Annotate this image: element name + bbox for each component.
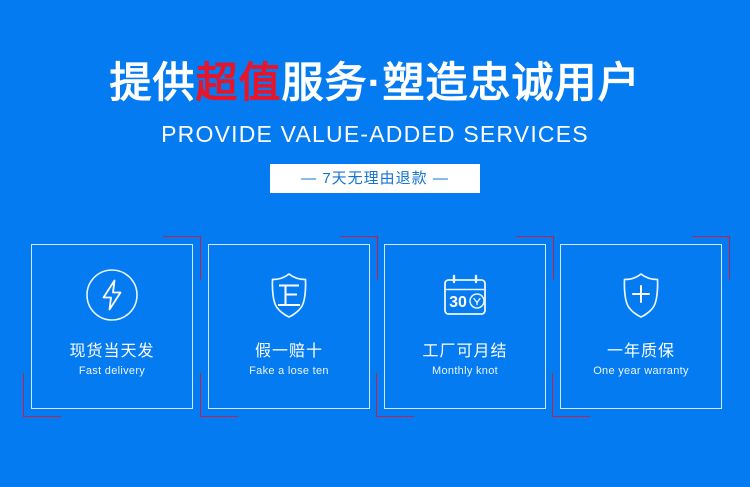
svg-text:30: 30 bbox=[449, 294, 467, 311]
card-subtitle: One year warranty bbox=[560, 364, 722, 379]
shield-plus-icon bbox=[560, 264, 722, 326]
corner-bracket-bottom-left bbox=[23, 373, 61, 417]
corner-bracket-bottom-left bbox=[376, 373, 414, 417]
card-title: 现货当天发 bbox=[31, 341, 193, 363]
feature-card-authenticity[interactable]: 假一赔十 Fake a lose ten bbox=[208, 244, 370, 409]
calendar-30-icon: 30 bbox=[384, 264, 546, 326]
card-subtitle: Monthly knot bbox=[384, 364, 546, 379]
card-subtitle: Fast delivery bbox=[31, 364, 193, 379]
card-subtitle: Fake a lose ten bbox=[208, 364, 370, 379]
lightning-circle-icon bbox=[31, 264, 193, 326]
card-title: 一年质保 bbox=[560, 341, 722, 363]
feature-card-list: 现货当天发 Fast delivery 假一赔十 Fake a lose ten bbox=[0, 0, 750, 487]
feature-card-monthly-settlement[interactable]: 30 工厂可月结 Monthly knot bbox=[384, 244, 546, 409]
feature-card-warranty[interactable]: 一年质保 One year warranty bbox=[560, 244, 722, 409]
corner-bracket-bottom-left bbox=[552, 373, 590, 417]
corner-bracket-bottom-left bbox=[200, 373, 238, 417]
card-title: 工厂可月结 bbox=[384, 341, 546, 363]
shield-zheng-icon bbox=[208, 264, 370, 326]
promo-banner: 提供超值服务·塑造忠诚用户 PROVIDE VALUE-ADDED SERVIC… bbox=[0, 0, 750, 487]
feature-card-fast-delivery[interactable]: 现货当天发 Fast delivery bbox=[31, 244, 193, 409]
card-title: 假一赔十 bbox=[208, 341, 370, 363]
